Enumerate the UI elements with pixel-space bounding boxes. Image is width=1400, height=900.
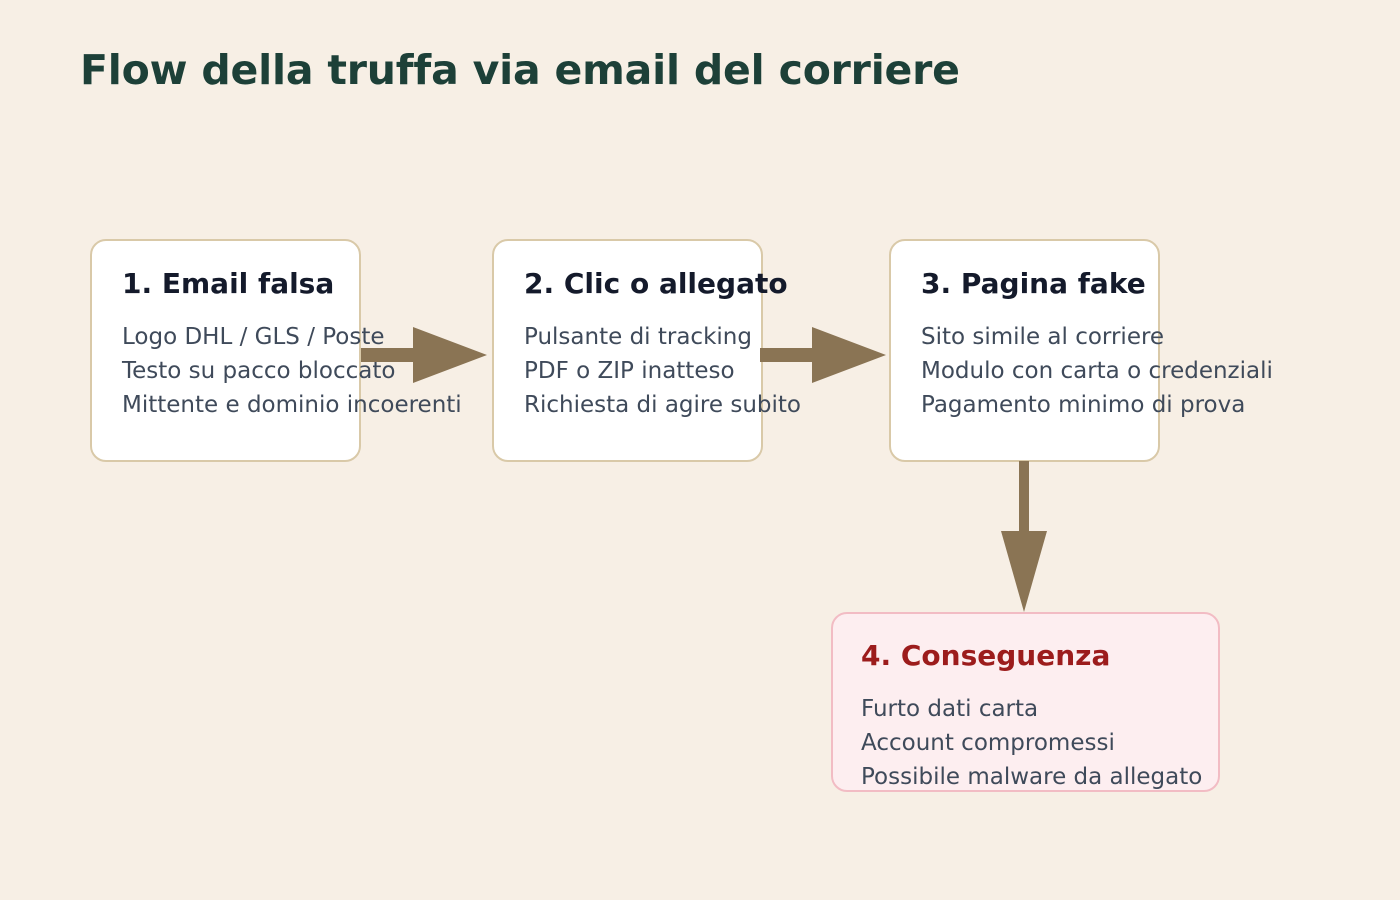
- flow-node-clic-o-allegato[interactable]: 2. Clic o allegato Pulsante di tracking …: [492, 239, 763, 462]
- flow-node-line: Furto dati carta: [861, 692, 1202, 726]
- diagram-canvas: Flow della truffa via email del corriere…: [0, 0, 1400, 900]
- flow-node-content: 3. Pagina fake Sito simile al corriere M…: [921, 267, 1273, 422]
- flow-node-pagina-fake[interactable]: 3. Pagina fake Sito simile al corriere M…: [889, 239, 1160, 462]
- flow-node-line: Mittente e dominio incoerenti: [122, 388, 462, 422]
- flow-arrow-right-1: [361, 325, 489, 385]
- flow-node-conseguenza[interactable]: 4. Conseguenza Furto dati carta Account …: [831, 612, 1220, 792]
- flow-node-title: 3. Pagina fake: [921, 267, 1273, 300]
- flow-node-line: Possibile malware da allegato: [861, 760, 1202, 794]
- flow-node-title: 4. Conseguenza: [861, 639, 1202, 672]
- flow-node-line: Account compromessi: [861, 726, 1202, 760]
- flow-node-line: Richiesta di agire subito: [524, 388, 801, 422]
- flow-node-lines: Sito simile al corriere Modulo con carta…: [921, 320, 1273, 422]
- page-title: Flow della truffa via email del corriere: [80, 46, 960, 94]
- flow-node-title: 2. Clic o allegato: [524, 267, 801, 300]
- flow-node-title: 1. Email falsa: [122, 267, 462, 300]
- flow-node-line: Sito simile al corriere: [921, 320, 1273, 354]
- flow-node-line: Modulo con carta o credenziali: [921, 354, 1273, 388]
- flow-node-email-falsa[interactable]: 1. Email falsa Logo DHL / GLS / Poste Te…: [90, 239, 361, 462]
- flow-node-lines: Furto dati carta Account compromessi Pos…: [861, 692, 1202, 794]
- flow-arrow-down-3: [989, 461, 1059, 613]
- flow-node-line: Pagamento minimo di prova: [921, 388, 1273, 422]
- flow-node-content: 4. Conseguenza Furto dati carta Account …: [861, 639, 1202, 794]
- flow-arrow-right-2: [760, 325, 888, 385]
